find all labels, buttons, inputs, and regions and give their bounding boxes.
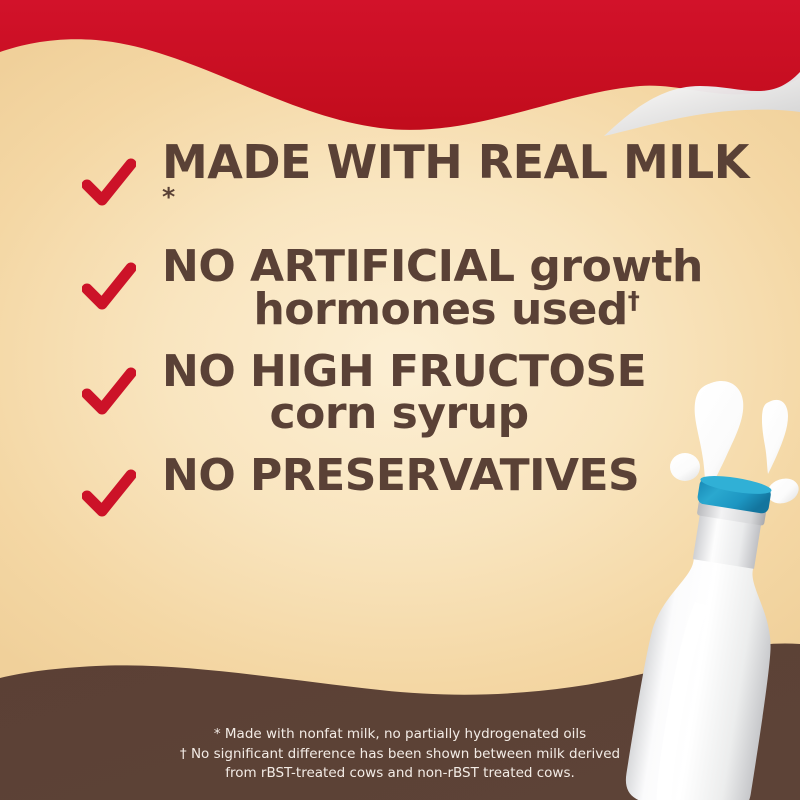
claim-item: NO PRESERVATIVES: [0, 455, 800, 497]
claim-superscript: †: [628, 286, 640, 314]
claim-text: NO ARTIFICIAL growth hormones used†: [162, 246, 703, 330]
check-icon: [82, 262, 136, 312]
check-icon: [82, 367, 136, 417]
footnotes: * Made with nonfat milk, no partially hy…: [0, 725, 800, 784]
claim-superscript: *: [162, 183, 175, 212]
claim-line-text: hormones used: [253, 284, 627, 335]
claim-text: MADE WITH REAL MILK*: [162, 140, 749, 228]
footnote-line: * Made with nonfat milk, no partially hy…: [0, 725, 800, 745]
product-claims-poster: MADE WITH REAL MILK* NO ARTIFICIAL growt…: [0, 0, 800, 800]
claim-line: corn syrup: [152, 393, 646, 435]
claim-text: NO HIGH FRUCTOSE corn syrup: [162, 351, 646, 435]
claim-text: NO PRESERVATIVES: [162, 455, 639, 497]
claim-line: NO HIGH FRUCTOSE: [162, 351, 646, 393]
check-icon: [82, 158, 136, 208]
footnote-line: † No significant difference has been sho…: [0, 745, 800, 765]
claim-line: NO ARTIFICIAL growth: [162, 246, 703, 288]
claim-item: MADE WITH REAL MILK*: [0, 140, 800, 228]
check-icon: [82, 469, 136, 519]
claims-list: MADE WITH REAL MILK* NO ARTIFICIAL growt…: [0, 140, 800, 507]
claim-item: NO HIGH FRUCTOSE corn syrup: [0, 351, 800, 435]
claim-line: NO PRESERVATIVES: [162, 455, 639, 497]
claim-line: hormones used†: [190, 289, 703, 331]
footnote-line: from rBST-treated cows and non-rBST trea…: [0, 764, 800, 784]
claim-line: MADE WITH REAL MILK: [162, 140, 749, 184]
claim-item: NO ARTIFICIAL growth hormones used†: [0, 246, 800, 330]
